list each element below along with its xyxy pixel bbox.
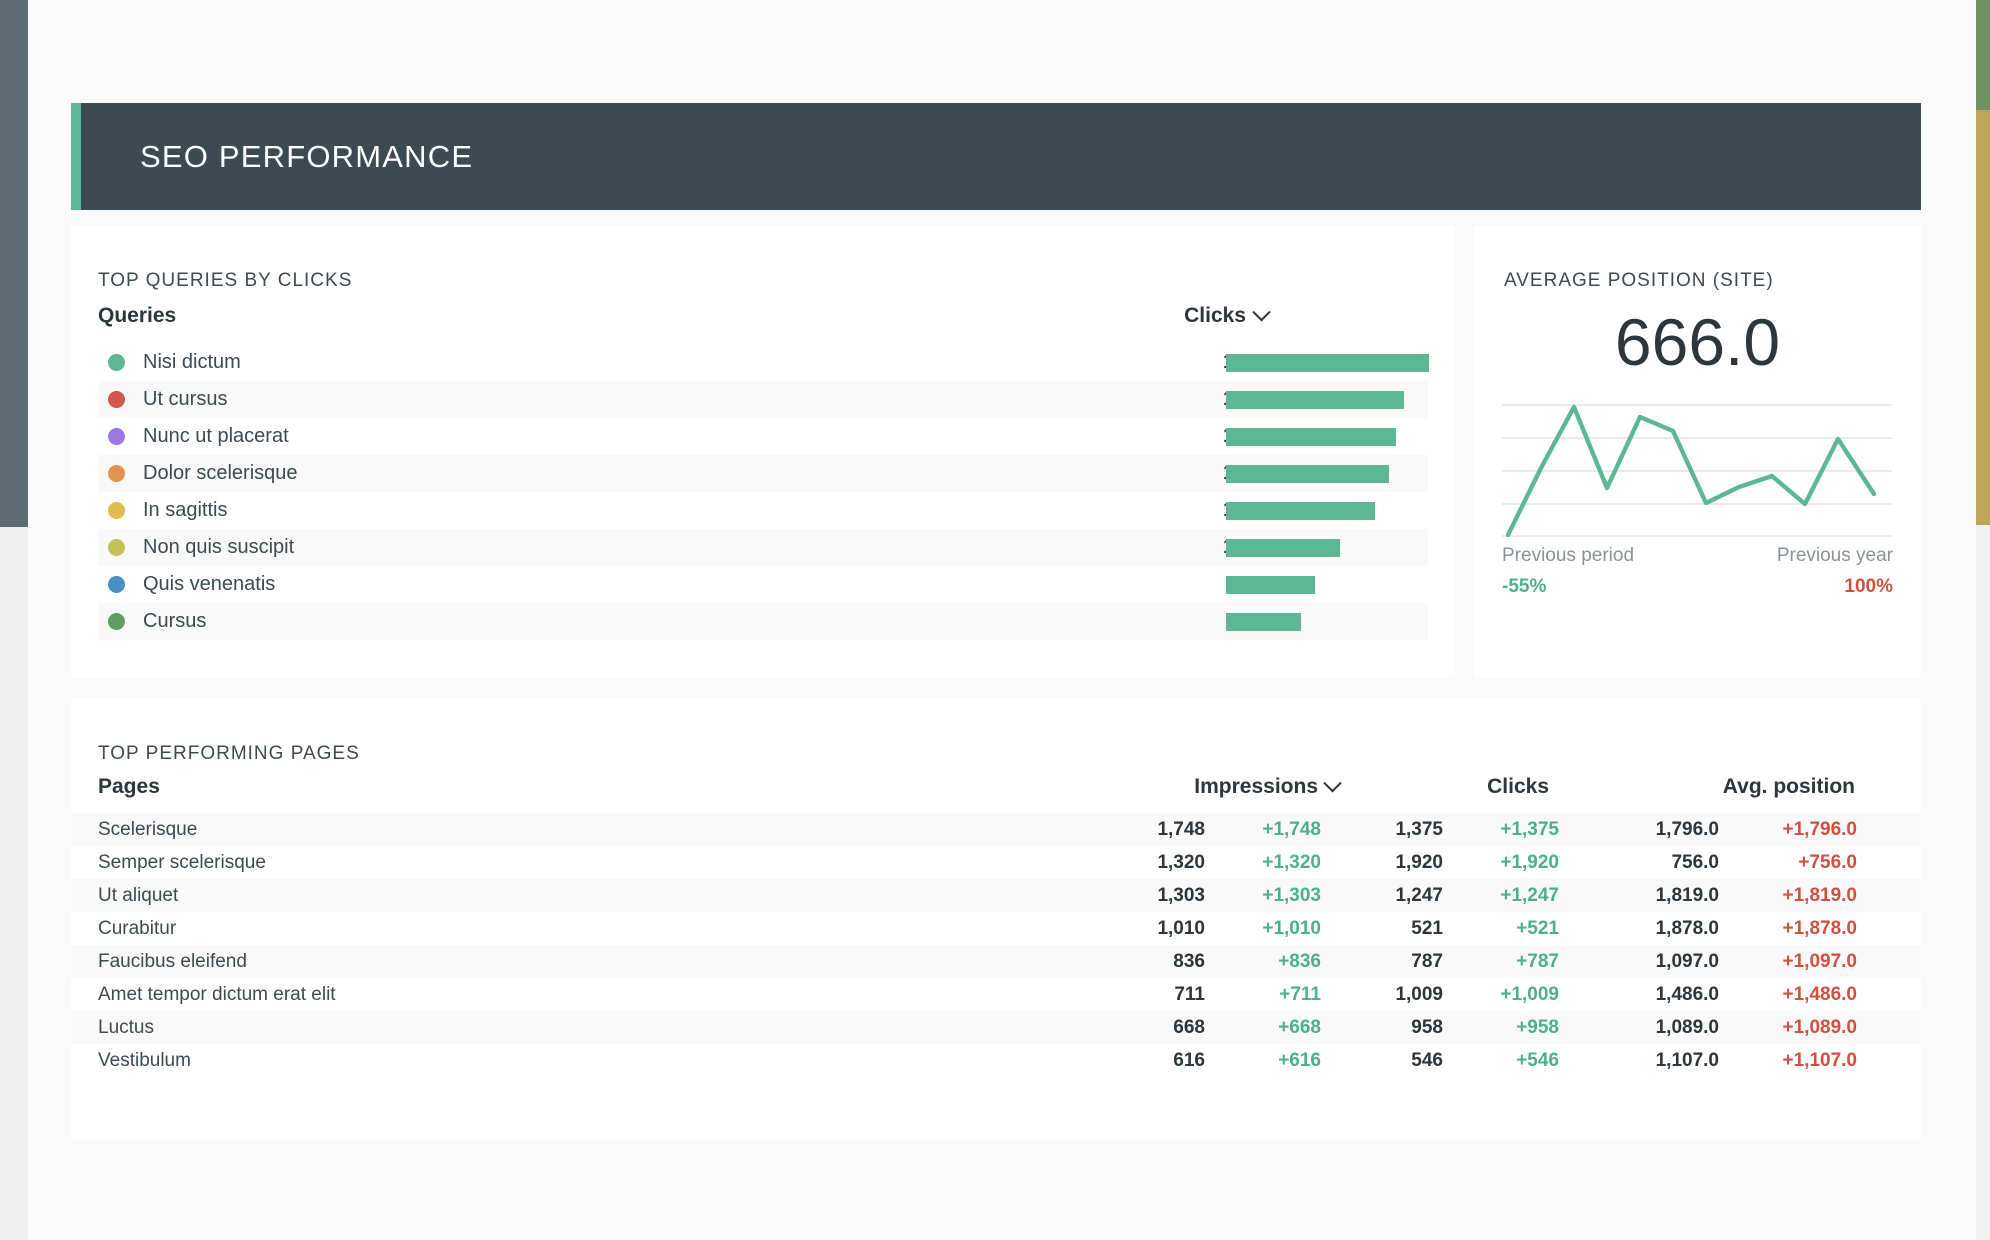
queries-table-header: Queries Clicks [98, 304, 1428, 334]
query-bar-track [1226, 613, 1429, 631]
page-impressions-value: 1,303 [1101, 885, 1211, 907]
query-bar [1226, 502, 1375, 520]
pages-table-header: Pages Impressions Clicks Avg. position [71, 775, 1921, 809]
query-row[interactable]: Quis venenatis829 [98, 566, 1428, 603]
top-queries-card: TOP QUERIES BY CLICKS Queries Clicks Nis… [71, 226, 1455, 677]
page-impressions-delta: +1,320 [1211, 852, 1339, 874]
page-impressions-value: 836 [1101, 951, 1211, 973]
page-clicks-value: 1,375 [1339, 819, 1449, 841]
page-name: Faucibus eleifend [71, 951, 1101, 973]
pages-column-header: Pages [71, 775, 1101, 799]
query-row[interactable]: In sagittis1,388 [98, 492, 1428, 529]
page-clicks-delta: +521 [1449, 918, 1577, 940]
top-performing-pages-title: TOP PERFORMING PAGES [98, 743, 360, 765]
queries-column-header: Queries [98, 304, 176, 328]
page-avg-position-value: 756.0 [1577, 852, 1725, 874]
page-impressions-value: 668 [1101, 1017, 1211, 1039]
query-name: Ut cursus [143, 388, 227, 411]
page-row[interactable]: Luctus668+668958+9581,089.0+1,089.0 [71, 1011, 1921, 1044]
query-bar-track [1226, 391, 1429, 409]
right-edge-strip-middle [1976, 110, 1990, 525]
page-row[interactable]: Semper scelerisque1,320+1,3201,920+1,920… [71, 846, 1921, 879]
query-name: Non quis suscipit [143, 536, 294, 559]
query-color-dot [108, 465, 125, 482]
page-impressions-delta: +668 [1211, 1017, 1339, 1039]
page-row[interactable]: Scelerisque1,748+1,7481,375+1,3751,796.0… [71, 813, 1921, 846]
query-bar [1226, 354, 1429, 372]
page-impressions-value: 1,320 [1101, 852, 1211, 874]
query-color-dot [108, 354, 125, 371]
page-avg-position-delta: +1,819.0 [1725, 885, 1875, 907]
queries-table-body: Nisi dictum1,896Ut cursus1,663Nunc ut pl… [98, 344, 1428, 640]
page-clicks-delta: +1,920 [1449, 852, 1577, 874]
left-gutter [0, 527, 28, 1240]
page-avg-position-delta: +1,796.0 [1725, 819, 1875, 841]
page-clicks-delta: +1,009 [1449, 984, 1577, 1006]
page-impressions-delta: +836 [1211, 951, 1339, 973]
page-avg-position-delta: +1,486.0 [1725, 984, 1875, 1006]
page-impressions-value: 711 [1101, 984, 1211, 1006]
page-row[interactable]: Faucibus eleifend836+836787+7871,097.0+1… [71, 945, 1921, 978]
query-name: Dolor scelerisque [143, 462, 298, 485]
query-name: Nisi dictum [143, 351, 241, 374]
query-bar-track [1226, 354, 1429, 372]
clicks-column-header[interactable]: Clicks [1184, 304, 1268, 328]
query-bar-track [1226, 576, 1429, 594]
impressions-column-label: Impressions [1194, 775, 1318, 799]
page-avg-position-delta: +1,097.0 [1725, 951, 1875, 973]
page-avg-position-delta: +1,089.0 [1725, 1017, 1875, 1039]
page-clicks-delta: +546 [1449, 1050, 1577, 1072]
query-bar [1226, 539, 1340, 557]
query-bar [1226, 465, 1389, 483]
comparison-labels: Previous period Previous year [1474, 545, 1921, 567]
page-impressions-value: 1,010 [1101, 918, 1211, 940]
page-avg-position-delta: +1,107.0 [1725, 1050, 1875, 1072]
page-clicks-value: 521 [1339, 918, 1449, 940]
page-impressions-delta: +1,303 [1211, 885, 1339, 907]
average-position-sparkline [1502, 404, 1892, 537]
average-position-card: AVERAGE POSITION (SITE) 666.0 Previous p… [1474, 226, 1921, 677]
query-bar-track [1226, 465, 1429, 483]
query-color-dot [108, 613, 125, 630]
page-clicks-value: 546 [1339, 1050, 1449, 1072]
comparison-values: -55% 100% [1474, 576, 1921, 598]
page-name: Scelerisque [71, 819, 1101, 841]
page-row[interactable]: Curabitur1,010+1,010521+5211,878.0+1,878… [71, 912, 1921, 945]
query-row[interactable]: Dolor scelerisque1,521 [98, 455, 1428, 492]
page-clicks-delta: +1,247 [1449, 885, 1577, 907]
page-avg-position-value: 1,486.0 [1577, 984, 1725, 1006]
top-queries-title: TOP QUERIES BY CLICKS [98, 270, 352, 292]
left-sidebar-strip [0, 0, 28, 527]
query-bar-track [1226, 539, 1429, 557]
page-clicks-delta: +958 [1449, 1017, 1577, 1039]
previous-year-value: 100% [1844, 576, 1893, 598]
header-accent-bar [71, 103, 81, 210]
right-edge-strip-bottom [1976, 525, 1990, 1240]
query-name: In sagittis [143, 499, 227, 522]
page-name: Luctus [71, 1017, 1101, 1039]
page-clicks-value: 958 [1339, 1017, 1449, 1039]
query-bar [1226, 576, 1315, 594]
query-row[interactable]: Cursus698 [98, 603, 1428, 640]
pages-table-body: Scelerisque1,748+1,7481,375+1,3751,796.0… [71, 813, 1921, 1077]
query-color-dot [108, 391, 125, 408]
page-impressions-delta: +1,748 [1211, 819, 1339, 841]
page-row[interactable]: Amet tempor dictum erat elit711+7111,009… [71, 978, 1921, 1011]
page-avg-position-value: 1,819.0 [1577, 885, 1725, 907]
previous-year-label: Previous year [1777, 545, 1893, 567]
page-name: Ut aliquet [71, 885, 1101, 907]
right-edge-strip-top [1976, 0, 1990, 110]
page-clicks-value: 1,920 [1339, 852, 1449, 874]
page-avg-position-value: 1,097.0 [1577, 951, 1725, 973]
query-bar-track [1226, 502, 1429, 520]
query-bar [1226, 391, 1404, 409]
average-position-value: 666.0 [1474, 304, 1921, 380]
query-bar [1226, 613, 1301, 631]
top-performing-pages-card: TOP PERFORMING PAGES Pages Impressions C… [71, 699, 1921, 1140]
page-row[interactable]: Vestibulum616+616546+5461,107.0+1,107.0 [71, 1044, 1921, 1077]
page-clicks-value: 1,009 [1339, 984, 1449, 1006]
query-color-dot [108, 539, 125, 556]
query-name: Nunc ut placerat [143, 425, 289, 448]
query-color-dot [108, 576, 125, 593]
page-row[interactable]: Ut aliquet1,303+1,3031,247+1,2471,819.0+… [71, 879, 1921, 912]
query-row[interactable]: Nunc ut placerat1,586 [98, 418, 1428, 455]
page-name: Semper scelerisque [71, 852, 1101, 874]
page-header-banner: SEO PERFORMANCE [71, 103, 1921, 210]
page-avg-position-value: 1,089.0 [1577, 1017, 1725, 1039]
query-row[interactable]: Nisi dictum1,896 [98, 344, 1428, 381]
clicks-column-label: Clicks [1184, 304, 1246, 328]
clicks-column-header[interactable]: Clicks [1339, 775, 1577, 799]
page-avg-position-value: 1,878.0 [1577, 918, 1725, 940]
query-bar-track [1226, 428, 1429, 446]
page-name: Vestibulum [71, 1050, 1101, 1072]
page-avg-position-value: 1,796.0 [1577, 819, 1725, 841]
query-row[interactable]: Non quis suscipit1,066 [98, 529, 1428, 566]
page-impressions-value: 1,748 [1101, 819, 1211, 841]
avg-position-column-header[interactable]: Avg. position [1577, 775, 1875, 799]
query-name: Quis venenatis [143, 573, 275, 596]
page-clicks-value: 1,247 [1339, 885, 1449, 907]
query-bar [1226, 428, 1396, 446]
previous-period-value: -55% [1502, 576, 1546, 598]
dashboard-page: SEO PERFORMANCE TOP QUERIES BY CLICKS Qu… [0, 0, 1990, 1240]
page-avg-position-value: 1,107.0 [1577, 1050, 1725, 1072]
page-title: SEO PERFORMANCE [140, 139, 473, 175]
page-impressions-delta: +616 [1211, 1050, 1339, 1072]
query-color-dot [108, 428, 125, 445]
page-impressions-delta: +711 [1211, 984, 1339, 1006]
chevron-down-icon [1252, 303, 1270, 321]
query-color-dot [108, 502, 125, 519]
page-avg-position-delta: +756.0 [1725, 852, 1875, 874]
average-position-title: AVERAGE POSITION (SITE) [1504, 270, 1774, 292]
page-clicks-value: 787 [1339, 951, 1449, 973]
query-name: Cursus [143, 610, 206, 633]
page-impressions-delta: +1,010 [1211, 918, 1339, 940]
page-name: Amet tempor dictum erat elit [71, 984, 1101, 1006]
previous-period-label: Previous period [1502, 545, 1634, 567]
page-clicks-delta: +1,375 [1449, 819, 1577, 841]
page-clicks-delta: +787 [1449, 951, 1577, 973]
impressions-column-header[interactable]: Impressions [1101, 775, 1339, 799]
page-impressions-value: 616 [1101, 1050, 1211, 1072]
page-avg-position-delta: +1,878.0 [1725, 918, 1875, 940]
page-name: Curabitur [71, 918, 1101, 940]
query-row[interactable]: Ut cursus1,663 [98, 381, 1428, 418]
